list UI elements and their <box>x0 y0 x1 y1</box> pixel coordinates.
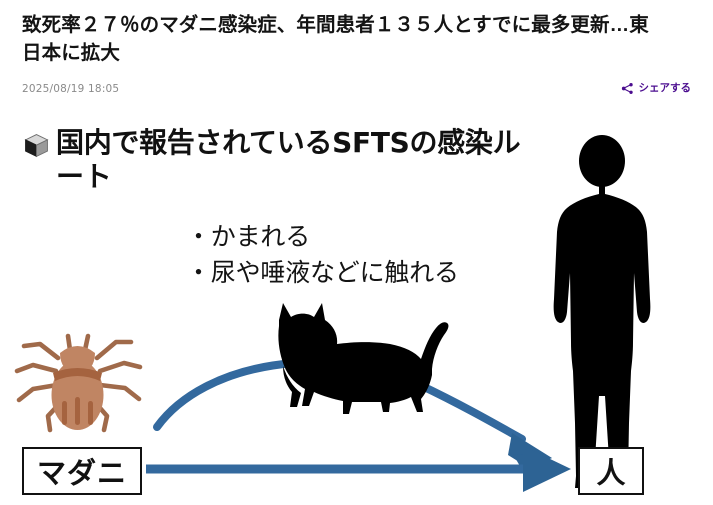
infographic-title: 国内で報告されているSFTSの感染ルート <box>56 126 544 193</box>
infographic-figure: 国内で報告されているSFTSの感染ルート ・かまれる ・尿や唾液などに触れる <box>0 113 713 505</box>
source-label-box: マダニ <box>22 447 142 495</box>
article-header: 致死率２７％のマダニ感染症、年間患者１３５人とすでに最多更新…東日本に拡大 <box>0 0 713 67</box>
human-silhouette <box>554 135 651 488</box>
article-meta-row: 2025/08/19 18:05 シェアする <box>0 82 713 95</box>
publish-timestamp: 2025/08/19 18:05 <box>22 83 119 95</box>
list-item: ・かまれる <box>186 219 459 255</box>
page-title: 致死率２７％のマダニ感染症、年間患者１３５人とすでに最多更新…東日本に拡大 <box>22 12 667 67</box>
target-label-box: 人 <box>578 447 644 495</box>
tick-illustration <box>17 336 140 430</box>
cat-silhouette <box>278 303 448 414</box>
infographic-title-row: 国内で報告されているSFTSの感染ルート <box>24 126 544 193</box>
list-item: ・尿や唾液などに触れる <box>186 255 459 291</box>
straight-arrow-direct <box>146 446 571 492</box>
share-button[interactable]: シェアする <box>621 82 692 95</box>
share-button-label: シェアする <box>639 83 692 94</box>
header-divider <box>0 111 713 112</box>
share-icon <box>621 82 634 95</box>
infection-route-list: ・かまれる ・尿や唾液などに触れる <box>186 219 459 290</box>
curved-arrow-via-cat <box>157 362 552 468</box>
cube-icon <box>24 133 49 158</box>
page-root: 致死率２７％のマダニ感染症、年間患者１３５人とすでに最多更新…東日本に拡大 20… <box>0 0 713 505</box>
